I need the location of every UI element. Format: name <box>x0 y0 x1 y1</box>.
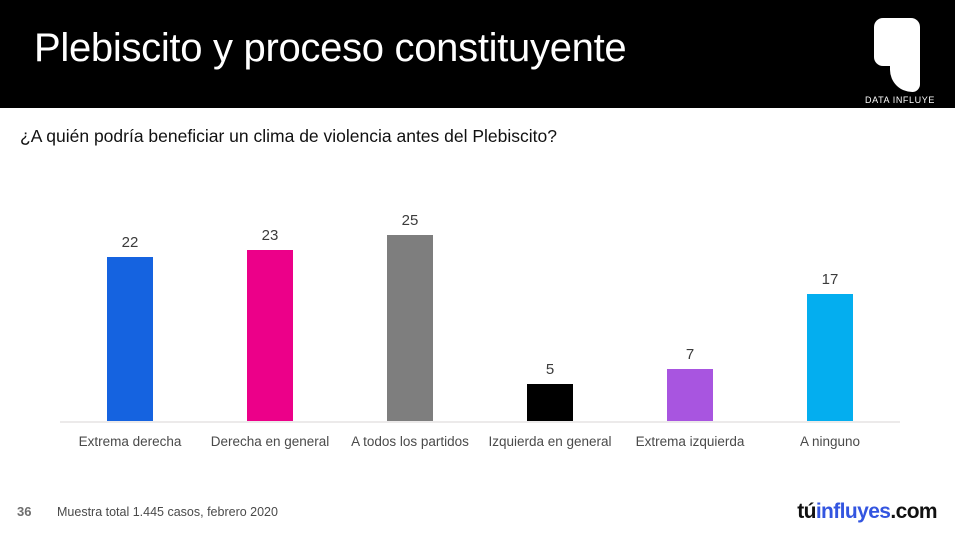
bar-value-5: 17 <box>760 271 900 288</box>
brand-subtitle: DATA INFLUYE <box>858 95 942 105</box>
bar-chart: 22 23 25 5 7 17 Extrema derecha Derecha … <box>60 190 900 440</box>
page-title: Plebiscito y proceso constituyente <box>34 26 626 71</box>
bar-group-0: 22 <box>60 190 200 421</box>
x-label-4: Extrema izquierda <box>620 433 760 451</box>
bar-izquierda-en-general <box>527 384 573 421</box>
bar-a-ninguno <box>807 294 853 421</box>
site-logo: túinfluyes.com <box>797 500 937 524</box>
site-logo-part3: .com <box>890 500 937 523</box>
chart-plot-area: 22 23 25 5 7 17 <box>60 190 900 423</box>
bar-derecha-en-general <box>247 250 293 421</box>
bar-value-1: 23 <box>200 227 340 244</box>
x-axis-line <box>60 421 900 423</box>
bar-value-3: 5 <box>480 361 620 378</box>
x-label-5: A ninguno <box>760 433 900 451</box>
comma-quote-icon <box>874 18 920 92</box>
x-label-3: Izquierda en general <box>480 433 620 451</box>
bar-value-0: 22 <box>60 234 200 251</box>
x-label-1: Derecha en general <box>200 433 340 451</box>
bar-a-todos-los-partidos <box>387 235 433 421</box>
site-logo-part2: influyes <box>816 500 891 523</box>
bar-value-2: 25 <box>340 212 480 229</box>
brand-logo: DATA INFLUYE <box>858 18 942 102</box>
x-label-2: A todos los partidos <box>340 433 480 451</box>
bar-group-1: 23 <box>200 190 340 421</box>
page-number: 36 <box>17 504 31 519</box>
bar-group-2: 25 <box>340 190 480 421</box>
bar-value-4: 7 <box>620 346 760 363</box>
x-axis-labels: Extrema derecha Derecha en general A tod… <box>60 433 900 483</box>
site-logo-part1: tú <box>797 500 816 523</box>
bar-group-5: 17 <box>760 190 900 421</box>
question-text: ¿A quién podría beneficiar un clima de v… <box>20 126 557 147</box>
sample-note: Muestra total 1.445 casos, febrero 2020 <box>57 505 278 519</box>
x-label-0: Extrema derecha <box>60 433 200 451</box>
bar-extrema-derecha <box>107 257 153 421</box>
bar-group-4: 7 <box>620 190 760 421</box>
bar-group-3: 5 <box>480 190 620 421</box>
bar-extrema-izquierda <box>667 369 713 421</box>
